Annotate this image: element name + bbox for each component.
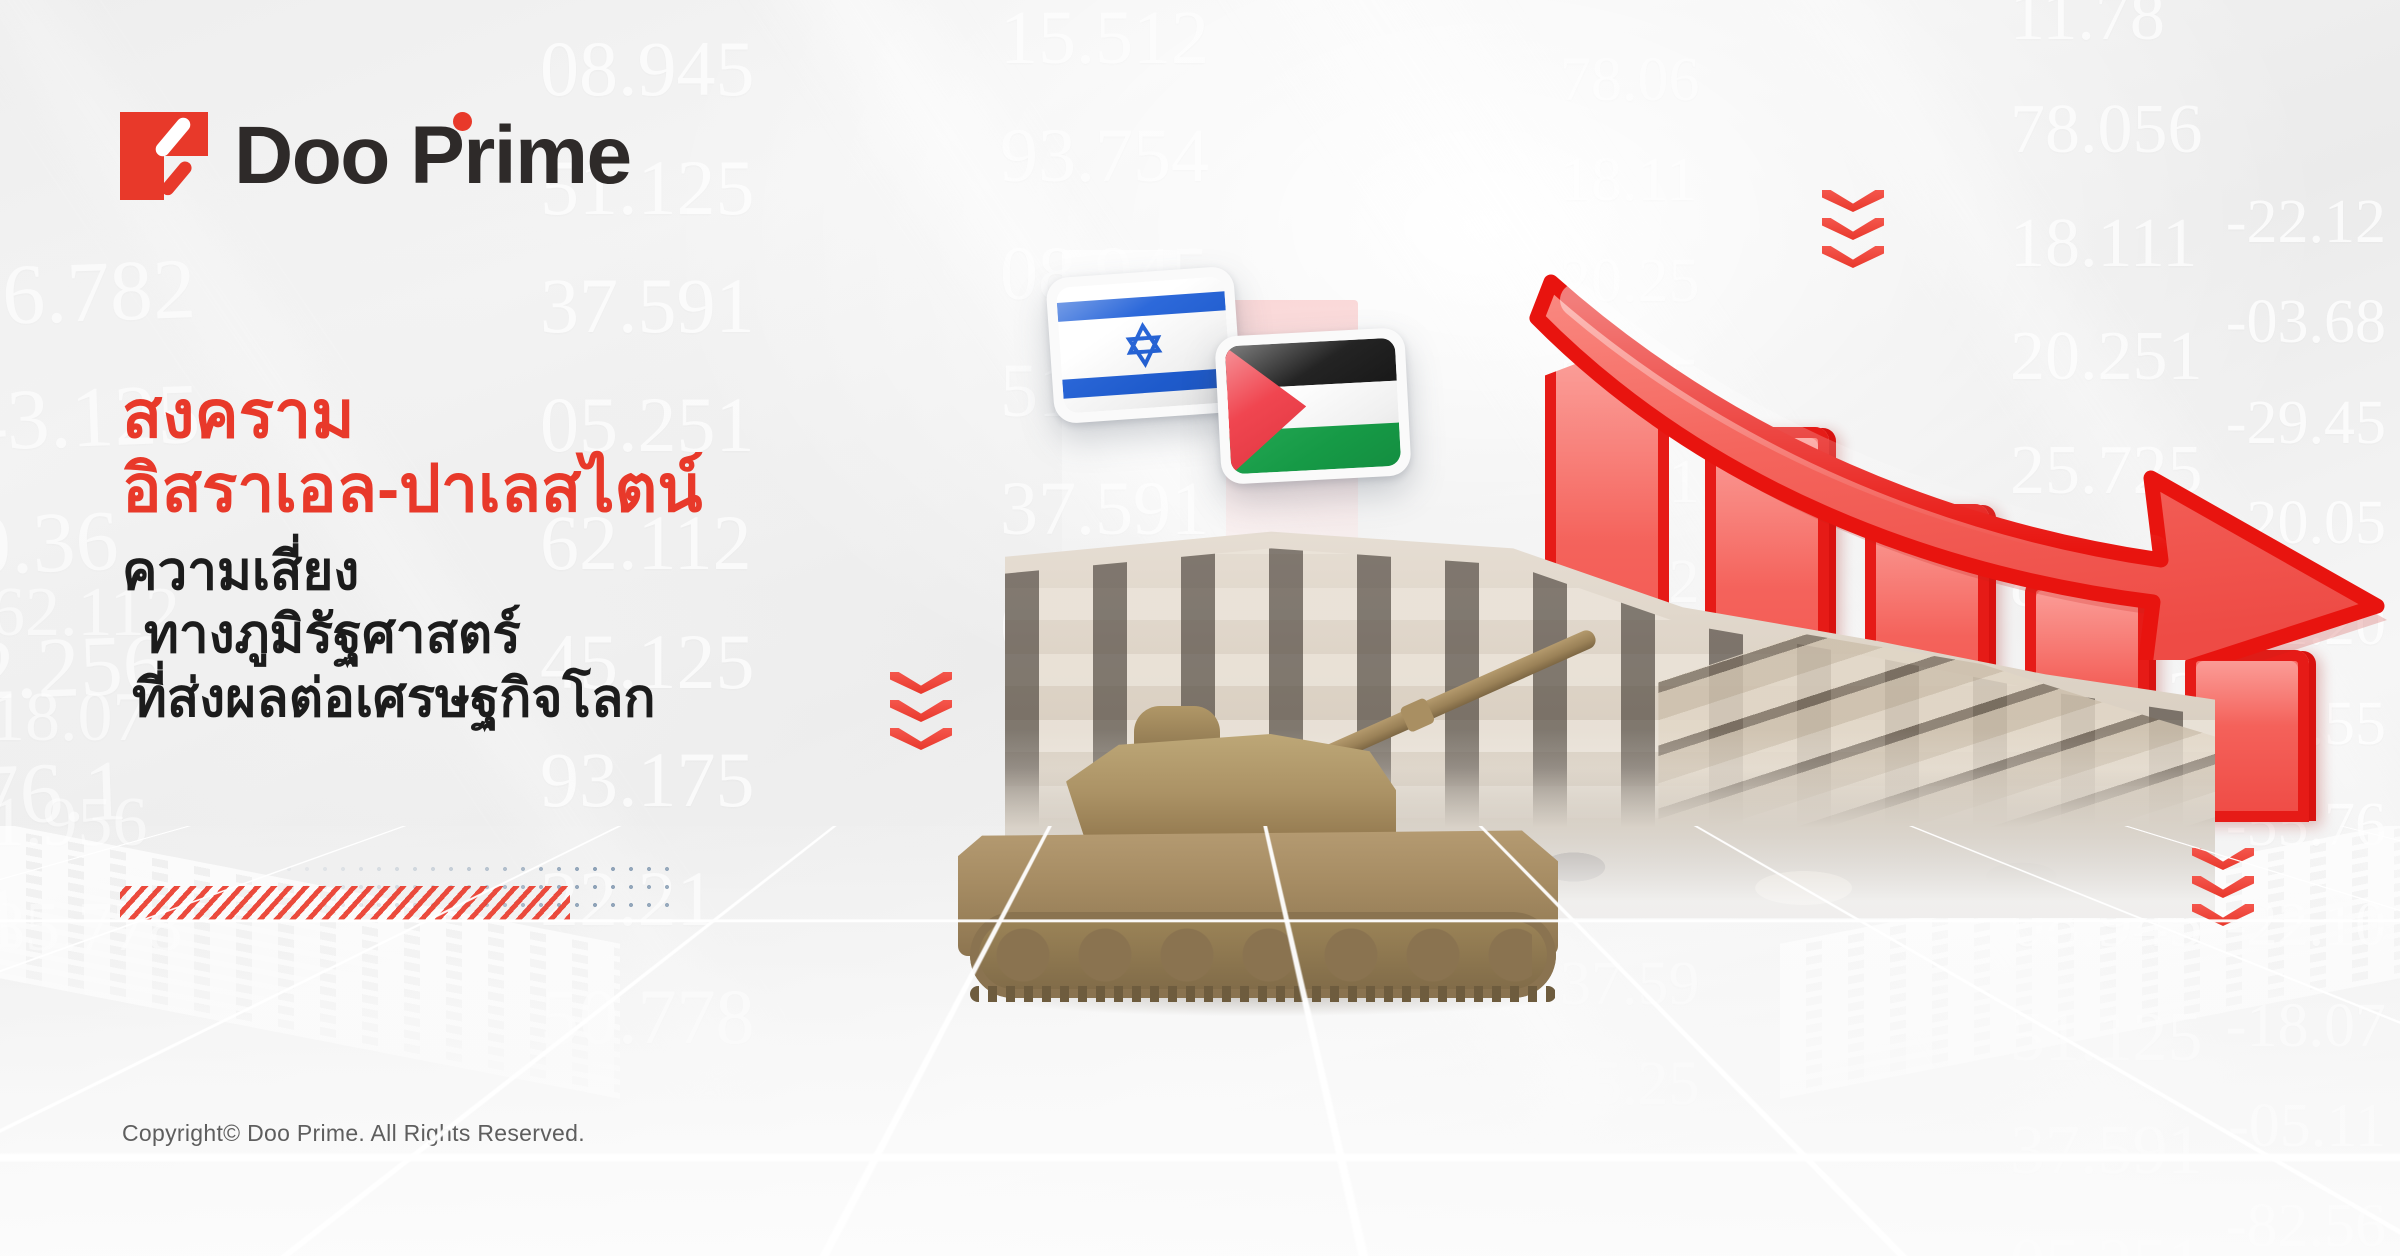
copyright-text: Copyright© Doo Prime. All Rights Reserve… xyxy=(122,1120,585,1147)
triple-down-chevron-bottom-right xyxy=(2192,848,2254,932)
doo-prime-logo-mark xyxy=(120,112,208,200)
headline-red: สงคราม อิสราเอล-ปาเลสไตน์ xyxy=(122,378,702,526)
headline-block: สงคราม อิสราเอล-ปาเลสไตน์ ความเสี่ยง ทาง… xyxy=(122,378,702,731)
headline-dark: ความเสี่ยง ทางภูมิรัฐศาสตร์ ที่ส่งผลต่อเ… xyxy=(122,540,702,731)
palestine-flag-inner xyxy=(1225,338,1401,475)
israel-flag xyxy=(1045,266,1243,425)
star-of-david-icon xyxy=(1114,315,1174,375)
decorative-accent xyxy=(120,862,680,924)
triple-down-chevron-left xyxy=(890,672,952,756)
military-tank-photo xyxy=(948,648,1588,1008)
palestine-flag xyxy=(1214,327,1411,485)
headline-dark-line-2: ทางภูมิรัฐศาสตร์ xyxy=(122,603,702,667)
headline-dark-line-3: ที่ส่งผลต่อเศรษฐกิจโลก xyxy=(122,667,702,731)
headline-red-line-2: อิสราเอล-ปาเลสไตน์ xyxy=(122,452,702,526)
logo-accent-dot xyxy=(453,112,472,131)
israel-flag-inner xyxy=(1056,276,1232,413)
headline-dark-line-1: ความเสี่ยง xyxy=(122,540,702,604)
headline-red-line-1: สงคราม xyxy=(122,378,702,452)
decorative-red-stripes xyxy=(120,886,570,920)
tank-road-wheels xyxy=(992,924,1532,986)
doo-prime-wordmark: Doo Prime xyxy=(234,115,631,197)
tank-track-cleats xyxy=(970,986,1556,1002)
triple-down-chevron-top xyxy=(1822,190,1884,274)
tank-turret xyxy=(1066,734,1396,842)
doo-prime-logo[interactable]: Doo Prime xyxy=(120,112,631,200)
banner-canvas: 56.782 43.125 0.36 2.256 76.1 1 62.112 1… xyxy=(0,0,2400,1256)
